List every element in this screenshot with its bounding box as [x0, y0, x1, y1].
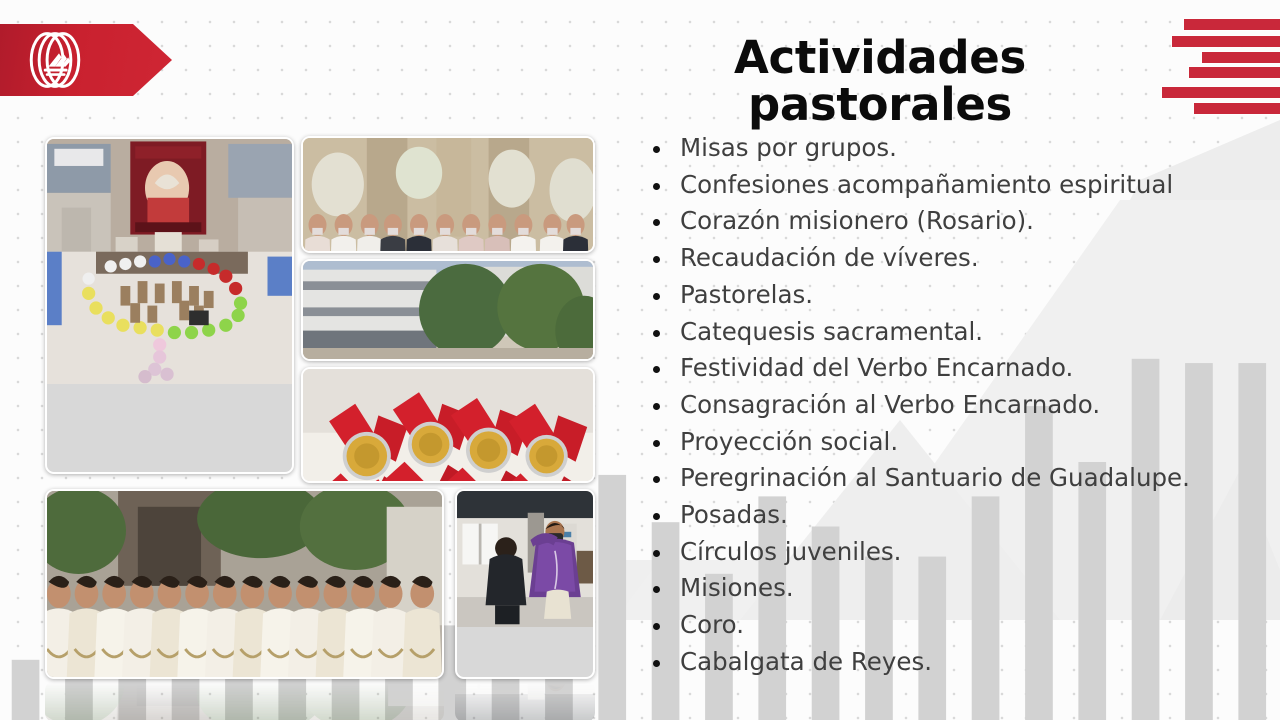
activity-item: Cabalgata de Reyes.: [645, 644, 1265, 681]
activity-item: Recaudación de víveres.: [645, 240, 1265, 277]
activity-label: Posadas.: [680, 500, 788, 529]
activity-label: Consagración al Verbo Encarnado.: [680, 390, 1100, 419]
bullet-dot-icon: [653, 476, 660, 483]
institution-logo-icon: [22, 27, 88, 93]
bullet-dot-icon: [653, 440, 660, 447]
activity-label: Peregrinación al Santuario de Guadalupe.: [680, 463, 1190, 492]
photo-nativity-display: [45, 137, 294, 474]
bullet-dot-icon: [653, 146, 660, 153]
activity-item: Corazón misionero (Rosario).: [645, 203, 1265, 240]
red-bars-decoration: [1170, 0, 1280, 118]
bullet-dot-icon: [653, 366, 660, 373]
bullet-dot-icon: [653, 550, 660, 557]
bullet-dot-icon: [653, 183, 660, 190]
photo-girls-traditional-dress: [45, 489, 444, 679]
activity-label: Cabalgata de Reyes.: [680, 647, 932, 676]
activity-item: Confesiones acompañamiento espiritual: [645, 167, 1265, 204]
activity-label: Coro.: [680, 610, 744, 639]
photo-schoolyard-circle: [301, 259, 595, 361]
photo-medals-ribbons: [301, 367, 595, 483]
bullet-dot-icon: [653, 660, 660, 667]
activity-item: Coro.: [645, 607, 1265, 644]
activity-label: Catequesis sacramental.: [680, 317, 983, 346]
activity-label: Corazón misionero (Rosario).: [680, 206, 1034, 235]
activity-label: Confesiones acompañamiento espiritual: [680, 170, 1173, 199]
activity-item: Pastorelas.: [645, 277, 1265, 314]
activity-item: Misiones.: [645, 570, 1265, 607]
bullet-dot-icon: [653, 293, 660, 300]
red-bar: [1189, 67, 1280, 78]
red-bar: [1202, 52, 1280, 63]
activity-item: Misas por grupos.: [645, 130, 1265, 167]
background-bar: [598, 475, 626, 720]
bullet-dot-icon: [653, 219, 660, 226]
photo-group-church: [301, 136, 595, 253]
activity-label: Misas por grupos.: [680, 133, 897, 162]
activity-label: Proyección social.: [680, 427, 898, 456]
activity-label: Pastorelas.: [680, 280, 813, 309]
slide-root: Actividades pastorales Misas por grupos.…: [0, 0, 1280, 720]
activities-list: Misas por grupos.Confesiones acompañamie…: [645, 130, 1265, 681]
activity-item: Catequesis sacramental.: [645, 314, 1265, 351]
background-bar: [12, 660, 40, 720]
activity-item: Consagración al Verbo Encarnado.: [645, 387, 1265, 424]
bullet-dot-icon: [653, 513, 660, 520]
activity-label: Festividad del Verbo Encarnado.: [680, 353, 1073, 382]
activity-item: Círculos juveniles.: [645, 534, 1265, 571]
activity-label: Círculos juveniles.: [680, 537, 901, 566]
photo-priest-blessing-reflection: [455, 681, 595, 720]
activity-label: Misiones.: [680, 573, 794, 602]
red-bar: [1194, 103, 1280, 114]
bullet-dot-icon: [653, 330, 660, 337]
activity-item: Proyección social.: [645, 424, 1265, 461]
page-title: Actividades pastorales: [600, 34, 1160, 129]
bullet-dot-icon: [653, 256, 660, 263]
bullet-dot-icon: [653, 403, 660, 410]
activity-item: Posadas.: [645, 497, 1265, 534]
red-bar: [1172, 36, 1280, 47]
activity-label: Recaudación de víveres.: [680, 243, 979, 272]
photo-priest-blessing: [455, 489, 595, 679]
red-bar: [1184, 19, 1280, 30]
bullet-dot-icon: [653, 623, 660, 630]
photo-girls-traditional-dress-reflection: [45, 681, 444, 720]
bullet-dot-icon: [653, 586, 660, 593]
activity-item: Peregrinación al Santuario de Guadalupe.: [645, 460, 1265, 497]
red-bar: [1162, 87, 1280, 98]
activity-item: Festividad del Verbo Encarnado.: [645, 350, 1265, 387]
